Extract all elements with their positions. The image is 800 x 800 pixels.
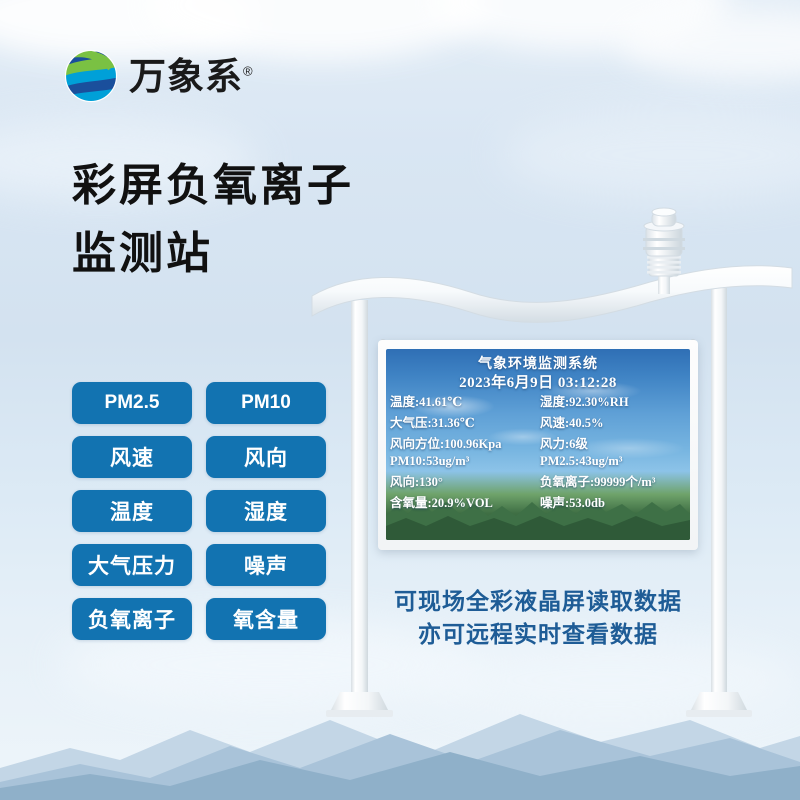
feature-tag[interactable]: 噪声 [206, 544, 326, 586]
brand-name: 万象系® [129, 58, 254, 95]
brand-name-text: 万象系 [129, 56, 243, 97]
feature-caption-line1: 可现场全彩液晶屏读取数据 [388, 585, 688, 618]
screen-reading: 湿度:92.30%RH [540, 391, 686, 410]
feature-tag[interactable]: 氧含量 [206, 598, 326, 640]
screen-reading: 温度:41.61℃ [390, 391, 536, 410]
feature-tag[interactable]: 温度 [72, 490, 192, 532]
feature-tag[interactable]: 湿度 [206, 490, 326, 532]
screen-reading: 负氧离子:99999个/m³ [540, 471, 686, 490]
trademark-symbol: ® [243, 63, 254, 78]
page-title-line2: 监测站 [72, 220, 354, 288]
screen-reading: 风力:6级 [540, 433, 686, 452]
globe-swirl-icon [62, 47, 120, 105]
feature-tag[interactable]: PM2.5 [72, 382, 192, 424]
feature-caption: 可现场全彩液晶屏读取数据 亦可远程实时查看数据 [388, 585, 688, 652]
feature-tag[interactable]: 大气压力 [72, 544, 192, 586]
screen-datetime: 2023年6月9日 03:12:28 [386, 371, 690, 392]
page-title-line1: 彩屏负氧离子 [72, 152, 354, 220]
lcd-screen: 气象环境监测系统 2023年6月9日 03:12:28 温度:41.61℃湿度:… [386, 349, 690, 540]
screen-reading: 噪声:53.0db [540, 492, 686, 511]
product-poster: 万象系® 彩屏负氧离子 监测站 PM2.5PM10风速风向温度湿度大气压力噪声负… [0, 0, 800, 800]
mountain-range-near [0, 736, 800, 800]
screen-reading: 风向:130° [390, 471, 536, 490]
lcd-display-panel: 气象环境监测系统 2023年6月9日 03:12:28 温度:41.61℃湿度:… [378, 340, 698, 550]
screen-reading: 风向方位:100.96Kpa [390, 433, 536, 452]
feature-tag[interactable]: PM10 [206, 382, 326, 424]
screen-reading: PM10:53ug/m³ [390, 454, 536, 469]
screen-reading: 含氧量:20.9%VOL [390, 492, 536, 511]
screen-readings-grid: 温度:41.61℃湿度:92.30%RH大气压:31.36℃风速:40.5%风向… [390, 391, 686, 511]
screen-reading: 风速:40.5% [540, 412, 686, 431]
page-title: 彩屏负氧离子 监测站 [72, 152, 354, 288]
feature-tag[interactable]: 风速 [72, 436, 192, 478]
brand-logo: 万象系® [62, 47, 254, 105]
feature-tag[interactable]: 负氧离子 [72, 598, 192, 640]
screen-title: 气象环境监测系统 [386, 353, 690, 373]
feature-caption-line2: 亦可远程实时查看数据 [388, 618, 688, 651]
feature-tag-grid: PM2.5PM10风速风向温度湿度大气压力噪声负氧离子氧含量 [72, 382, 326, 640]
feature-tag[interactable]: 风向 [206, 436, 326, 478]
screen-reading: 大气压:31.36℃ [390, 412, 536, 431]
screen-reading: PM2.5:43ug/m³ [540, 454, 686, 469]
